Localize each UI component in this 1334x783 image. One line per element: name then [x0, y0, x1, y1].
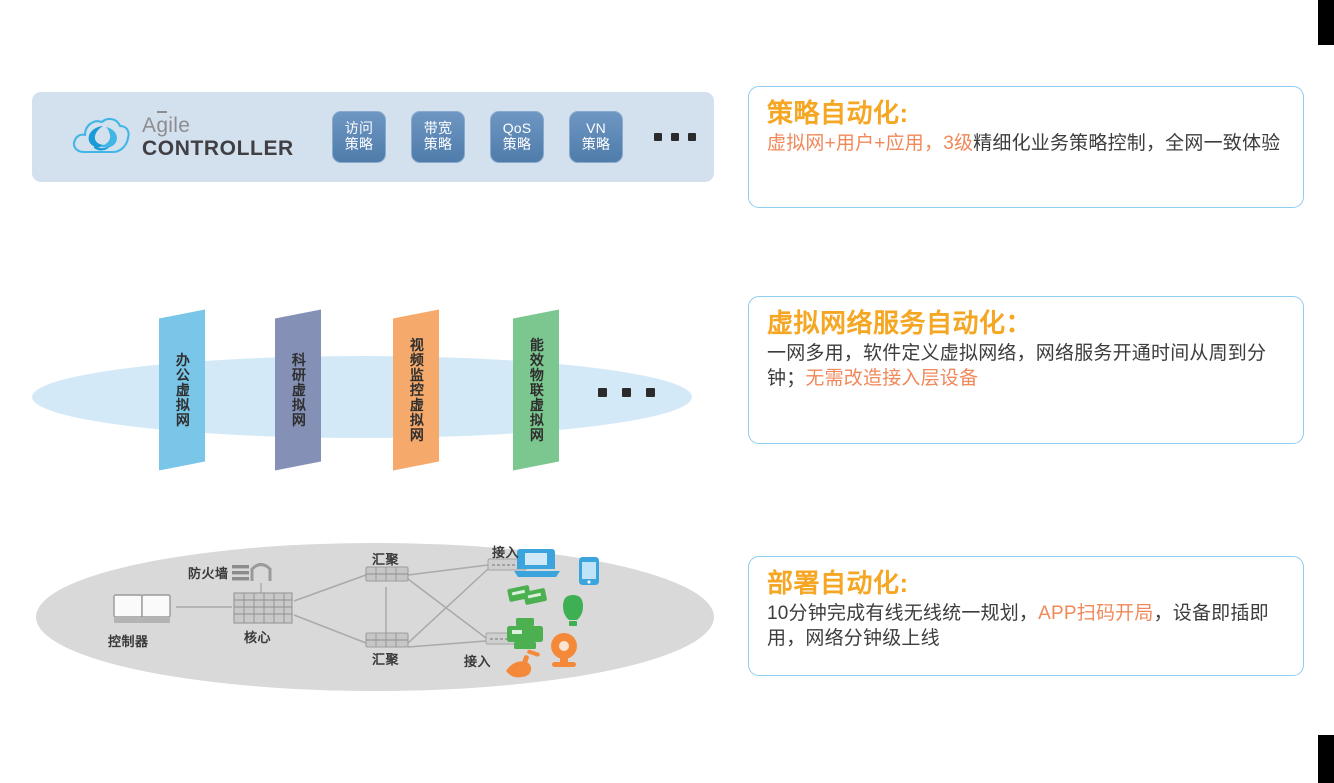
card-title: 部署自动化:	[767, 569, 1287, 599]
card-title: 虚拟网络服务自动化：	[767, 309, 1287, 339]
vn-slab-video-surveillance-vn: 视频监控虚拟网	[393, 310, 439, 471]
laptop-icon	[514, 549, 560, 577]
virtual-network-scene: 办公虚拟网 科研虚拟网 视频监控虚拟网 能效物联虚拟网	[32, 300, 722, 495]
logo-brand-top: Agile	[142, 115, 294, 136]
policy-chip-access-policy[interactable]: 访问 策略	[332, 111, 386, 163]
card-body-pre: 10分钟完成有线无线统一规划，	[767, 603, 1038, 624]
feature-card-virtual-network-service-automation: 虚拟网络服务自动化： 一网多用，软件定义虚拟网络，网络服务开通时间从周到分钟；无…	[748, 296, 1304, 444]
tablet-icon	[579, 557, 599, 585]
vn-slab-label: 能效物联虚拟网	[529, 338, 544, 443]
cloud-swirl-icon	[70, 112, 132, 162]
smart-lamp-icon	[563, 595, 583, 626]
topology-label-access-switch-lower: 接入	[464, 651, 491, 670]
logo-wordmark: Agile CONTROLLER	[142, 115, 294, 159]
logo-brand-bottom: CONTROLLER	[142, 138, 294, 159]
card-body-highlight: 虚拟网+用户+应用，3级	[767, 133, 973, 154]
aggregation-switch-lower-icon	[366, 633, 408, 647]
vn-slab-energy-iot-vn: 能效物联虚拟网	[513, 310, 559, 471]
feature-card-deployment-automation: 部署自动化: 10分钟完成有线无线统一规划，APP扫码开局，设备即插即用，网络分…	[748, 556, 1304, 676]
slide-canvas: Agile CONTROLLER 访问 策略 带宽 策略 QoS 策略 VN 策…	[0, 0, 1334, 783]
card-body: 一网多用，软件定义虚拟网络，网络服务开通时间从周到分钟；无需改造接入层设备	[767, 341, 1287, 391]
webcam-icon	[551, 633, 577, 667]
card-body-highlight: 无需改造接入层设备	[805, 368, 978, 389]
vn-more-ellipsis-icon	[598, 388, 655, 397]
feature-card-policy-automation: 策略自动化: 虚拟网+用户+应用，3级精细化业务策略控制，全网一致体验	[748, 86, 1304, 208]
topology-label-aggregation-switch-lower: 汇聚	[372, 649, 399, 668]
bottom-right-edge-artifact	[1318, 735, 1334, 783]
policy-chip-qos-policy[interactable]: QoS 策略	[490, 111, 544, 163]
agile-controller-logo: Agile CONTROLLER	[70, 106, 320, 168]
vn-slab-label: 科研虚拟网	[291, 353, 306, 428]
topology-label-firewall-node: 防火墙	[188, 563, 229, 582]
agile-controller-bar: Agile CONTROLLER 访问 策略 带宽 策略 QoS 策略 VN 策…	[32, 92, 714, 182]
card-title: 策略自动化:	[767, 99, 1287, 129]
card-body-post: 精细化业务策略控制，全网一致体验	[973, 133, 1280, 154]
aggregation-switch-upper-icon	[366, 567, 408, 581]
policy-more-ellipsis-icon	[654, 133, 696, 141]
card-body: 10分钟完成有线无线统一规划，APP扫码开局，设备即插即用，网络分钟级上线	[767, 601, 1287, 651]
firewall-node-icon	[232, 565, 270, 594]
vn-slab-research-vn: 科研虚拟网	[275, 310, 321, 471]
network-topology-scene: 控制器 防火墙 核心 汇聚 汇聚 接入 接入	[36, 543, 716, 691]
topology-label-access-switch-upper: 接入	[492, 542, 519, 561]
core-switch-node-icon	[234, 593, 292, 623]
top-right-edge-artifact	[1318, 0, 1334, 45]
vn-slab-label: 视频监控虚拟网	[409, 338, 424, 443]
topology-label-aggregation-switch-upper: 汇聚	[372, 549, 399, 568]
topology-label-core-switch-node: 核心	[244, 627, 271, 646]
policy-chip-list: 访问 策略 带宽 策略 QoS 策略 VN 策略	[332, 108, 696, 166]
policy-chip-bandwidth-policy[interactable]: 带宽 策略	[411, 111, 465, 163]
dome-camera-icon	[506, 649, 540, 677]
policy-chip-vn-policy[interactable]: VN 策略	[569, 111, 623, 163]
wireless-ap-icon	[507, 585, 547, 605]
controller-node-icon	[114, 595, 170, 623]
card-body: 虚拟网+用户+应用，3级精细化业务策略控制，全网一致体验	[767, 131, 1287, 156]
card-body-highlight: APP扫码开局	[1038, 603, 1153, 624]
network-fabric-ellipse	[32, 356, 692, 438]
vn-slab-office-vn: 办公虚拟网	[159, 310, 205, 471]
topology-label-controller-node: 控制器	[108, 631, 149, 650]
vn-slab-label: 办公虚拟网	[175, 353, 190, 428]
